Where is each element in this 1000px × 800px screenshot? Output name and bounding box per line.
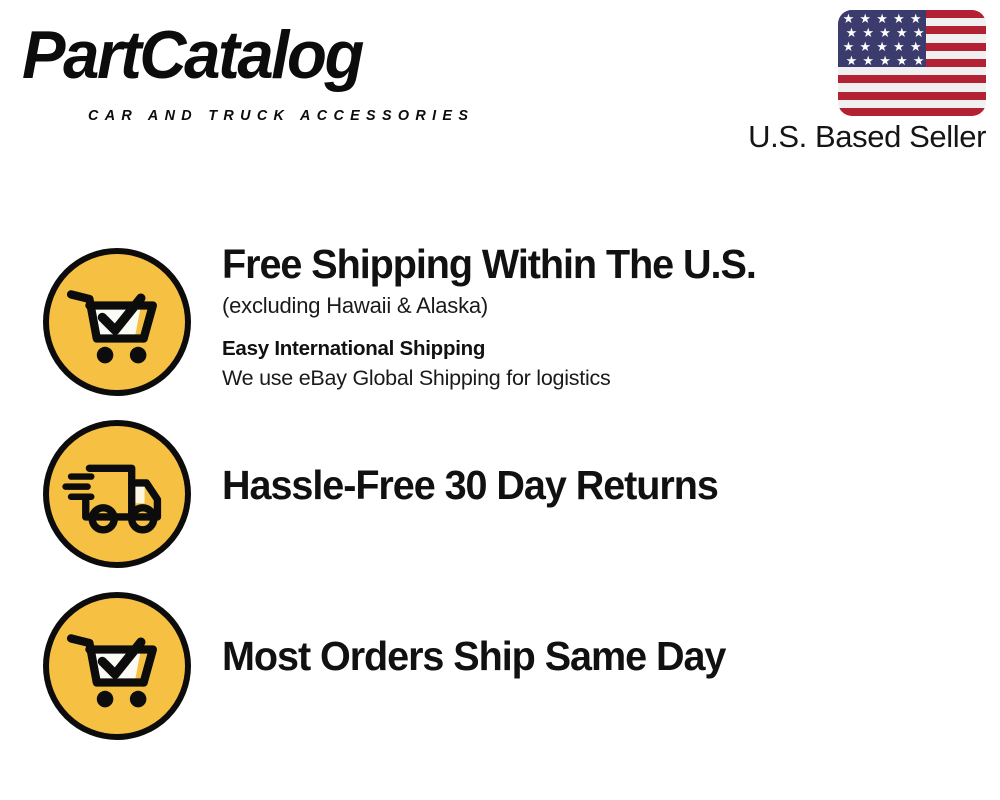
flag-star: ★ [879, 26, 891, 39]
flag-star: ★ [862, 54, 874, 67]
feature-sub-title: Easy International Shipping [222, 335, 990, 363]
flag-star: ★ [876, 12, 888, 25]
flag-star: ★ [846, 26, 858, 39]
feature-note: (excluding Hawaii & Alaska) [222, 291, 990, 321]
header-bar: PartCatalog CAR AND TRUCK ACCESSORIES ★ … [0, 0, 1000, 180]
flag-star: ★ [913, 26, 925, 39]
flag-stripe [838, 100, 986, 108]
feature-text-block: Free Shipping Within The U.S. (excluding… [222, 240, 990, 393]
flag-star: ★ [913, 54, 925, 67]
flag-stripe [838, 92, 986, 100]
flag-star: ★ [896, 26, 908, 39]
flag-star: ★ [910, 40, 922, 53]
flag-star: ★ [876, 40, 888, 53]
feature-title: Hassle-Free 30 Day Returns [222, 461, 963, 509]
feature-sub-note: We use eBay Global Shipping for logistic… [222, 364, 990, 393]
delivery-truck-icon [43, 420, 191, 568]
flag-star: ★ [893, 12, 905, 25]
flag-stripe [838, 75, 986, 83]
flag-star: ★ [893, 40, 905, 53]
brand-wordmark: PartCatalog [22, 18, 362, 92]
shopping-cart-check-icon [43, 592, 191, 740]
flag-star: ★ [896, 54, 908, 67]
us-based-seller-label: U.S. Based Seller [724, 119, 986, 155]
flag-star: ★ [862, 26, 874, 39]
feature-row: Most Orders Ship Same Day [0, 587, 1000, 747]
feature-title: Most Orders Ship Same Day [222, 632, 963, 680]
flag-star: ★ [843, 40, 855, 53]
flag-star: ★ [859, 12, 871, 25]
feature-row: Hassle-Free 30 Day Returns [0, 415, 1000, 575]
flag-star: ★ [846, 54, 858, 67]
feature-row: Free Shipping Within The U.S. (excluding… [0, 240, 1000, 410]
feature-title: Free Shipping Within The U.S. [222, 240, 963, 288]
us-flag-icon: ★ ★ ★ ★ ★ ★ ★ ★ ★ ★ ★ ★ ★ ★ ★ ★ ★ ★ ★ ★ [838, 10, 986, 116]
feature-text-block: Hassle-Free 30 Day Returns [222, 461, 990, 509]
flag-star: ★ [879, 54, 891, 67]
flag-star: ★ [859, 40, 871, 53]
flag-stripe [838, 108, 986, 116]
flag-star: ★ [843, 12, 855, 25]
flag-stars: ★ ★ ★ ★ ★ ★ ★ ★ ★ ★ ★ ★ ★ ★ ★ ★ ★ ★ ★ ★ [838, 10, 926, 67]
flag-stripe [838, 83, 986, 91]
partcatalog-logo[interactable]: PartCatalog CAR AND TRUCK ACCESSORIES [22, 18, 492, 118]
flag-stripe [838, 67, 986, 75]
brand-tagline: CAR AND TRUCK ACCESSORIES [88, 108, 474, 124]
flag-star: ★ [910, 12, 922, 25]
feature-text-block: Most Orders Ship Same Day [222, 632, 990, 680]
shopping-cart-check-icon [43, 248, 191, 396]
